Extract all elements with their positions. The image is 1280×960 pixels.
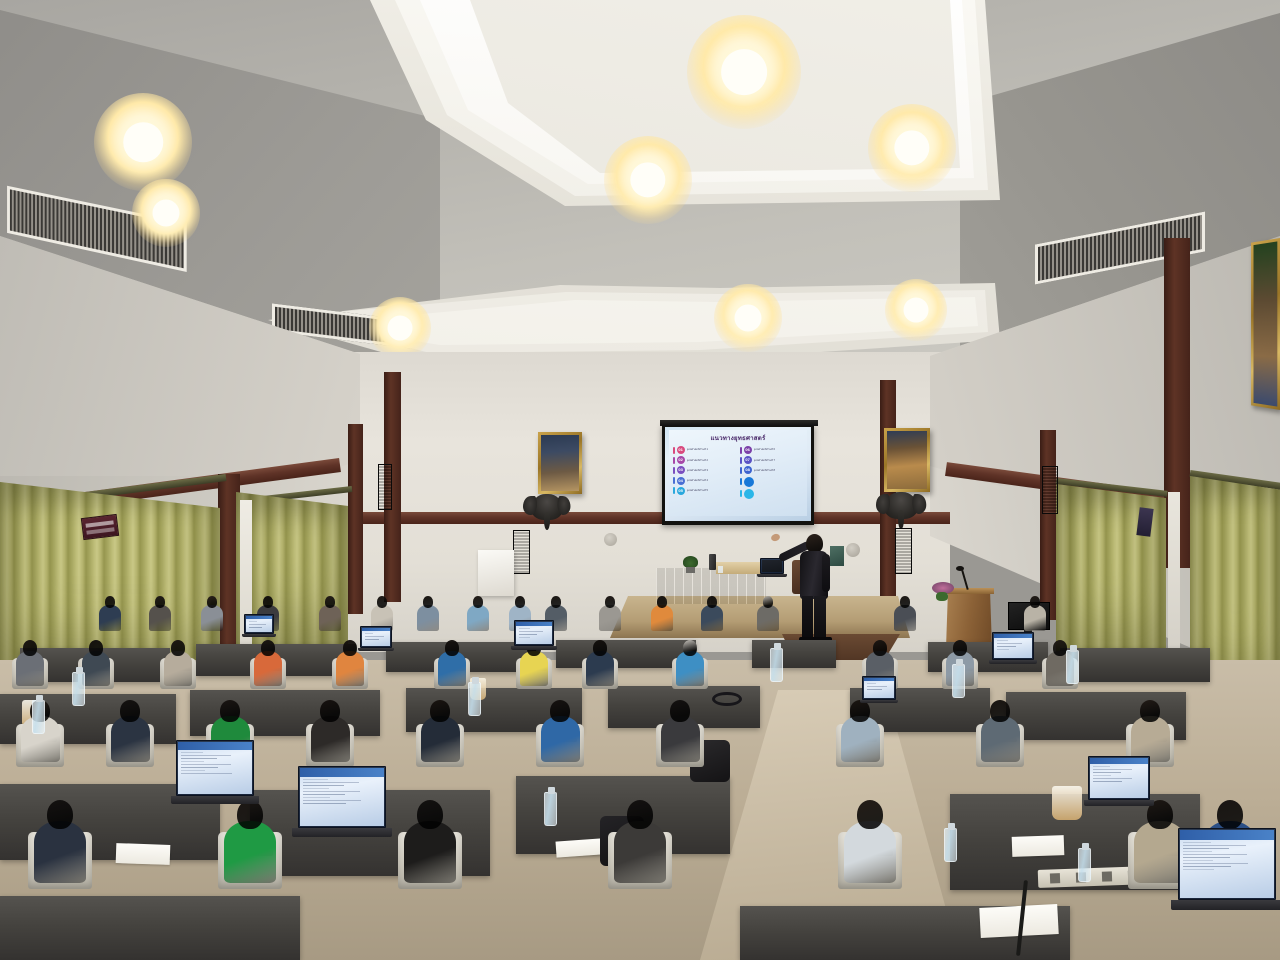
framed-royal-portrait-left	[538, 432, 582, 494]
attendee-head	[683, 640, 697, 656]
attendee	[417, 605, 439, 631]
laptop[interactable]	[514, 620, 554, 646]
attendee	[467, 605, 489, 631]
slide-item-number: 08	[744, 466, 752, 474]
laptop-keyboard[interactable]	[358, 648, 394, 651]
laptop-keyboard[interactable]	[1084, 800, 1155, 806]
attendee-head	[155, 596, 166, 608]
slide-list-item: 06ยุทธศาสตร์ด้านที่ 6	[740, 446, 803, 454]
slide-item-bar	[673, 467, 675, 474]
water-bottle	[72, 672, 85, 706]
attendee-head	[220, 700, 240, 722]
elephant-trunk-right	[898, 510, 904, 529]
ceiling-downlight	[885, 279, 947, 341]
paper-sheet-3	[116, 843, 171, 865]
laptop[interactable]	[862, 676, 896, 700]
attendee	[1024, 605, 1046, 631]
slide-content-columns: 01ยุทธศาสตร์ด้านที่ 102ยุทธศาสตร์ด้านที่…	[669, 443, 807, 499]
wall-diffuser-right	[846, 543, 860, 557]
slide-item-number: 02	[677, 456, 685, 464]
attendee-head	[763, 596, 774, 608]
water-bottle	[770, 648, 783, 682]
table-row1-e	[752, 640, 836, 668]
slide-item-bar	[740, 467, 742, 474]
attendee	[676, 651, 705, 685]
attendee-head	[320, 700, 340, 722]
laptop-screen	[1090, 758, 1148, 798]
attendee	[224, 821, 276, 883]
attendee-head	[120, 700, 140, 722]
laptop-screen	[362, 628, 390, 646]
attendee-head	[377, 596, 388, 608]
slide-list-item: 05ยุทธศาสตร์ด้านที่ 5	[673, 487, 736, 495]
slide-item-bar	[673, 477, 675, 484]
slide-item-number: 04	[677, 477, 685, 485]
laptop[interactable]	[1178, 828, 1276, 900]
projection-screen-surface: แนวทางยุทธศาสตร์ 01ยุทธศาสตร์ด้านที่ 102…	[665, 427, 811, 521]
slide-column: 06ยุทธศาสตร์ด้านที่ 607ยุทธศาสตร์ด้านที่…	[740, 446, 803, 499]
slide-item-text: ยุทธศาสตร์ด้านที่ 5	[687, 489, 736, 492]
water-bottle	[1078, 848, 1091, 882]
laptop-screen	[246, 616, 272, 632]
attendee-head	[953, 640, 967, 656]
attendee	[661, 716, 700, 763]
attendee-head	[873, 640, 887, 656]
wall-diffuser-left	[604, 533, 617, 546]
attendee-head	[657, 596, 668, 608]
attendee	[34, 821, 86, 883]
wall-speaker-far-left	[378, 464, 392, 510]
attendee	[520, 651, 549, 685]
slide-list-item: 04ยุทธศาสตร์ด้านที่ 4	[673, 477, 736, 485]
attendee-head	[89, 640, 103, 656]
slide-item-bar	[673, 487, 675, 494]
attendee	[844, 821, 896, 883]
water-bottle	[952, 664, 965, 698]
slide-item-text: ยุทธศาสตร์ด้านที่ 8	[754, 469, 803, 472]
slide-item-number: 07	[744, 456, 752, 464]
ceiling-downlight	[868, 104, 956, 192]
slide-list-item: 01ยุทธศาสตร์ด้านที่ 1	[673, 446, 736, 454]
framed-royal-portrait-right	[884, 428, 930, 492]
attendee-head	[551, 596, 562, 608]
projection-screen: แนวทางยุทธศาสตร์ 01ยุทธศาสตร์ด้านที่ 102…	[662, 425, 814, 525]
water-bottle	[32, 700, 45, 734]
attendee	[404, 821, 456, 883]
attendee-head	[325, 596, 336, 608]
attendee	[421, 716, 460, 763]
attendee-head	[550, 700, 570, 722]
wall-trim-back	[330, 512, 950, 524]
wall-speaker-far-right	[1042, 466, 1058, 514]
attendee	[894, 605, 916, 631]
laptop[interactable]	[176, 740, 254, 796]
attendee-head	[445, 640, 459, 656]
attendee	[16, 651, 45, 685]
attendee-head	[1030, 596, 1041, 608]
laptop-screen	[1180, 830, 1274, 898]
laptop-keyboard[interactable]	[989, 660, 1037, 664]
attendee	[336, 651, 365, 685]
attendee	[201, 605, 223, 631]
slide-item-bar	[673, 447, 675, 454]
paper-sheet-4	[555, 838, 602, 857]
attendee-head	[627, 800, 653, 829]
slide-column: 01ยุทธศาสตร์ด้านที่ 102ยุทธศาสตร์ด้านที่…	[673, 446, 736, 499]
slide-item-text: ยุทธศาสตร์ด้านที่ 1	[687, 448, 736, 451]
attendee-head	[707, 596, 718, 608]
water-bottle	[544, 792, 557, 826]
attendee-head	[171, 640, 185, 656]
slide-list-item	[740, 477, 803, 487]
laptop-screen	[178, 742, 252, 794]
ceiling-downlight	[94, 93, 193, 192]
laptop[interactable]	[360, 626, 392, 648]
laptop-screen	[516, 622, 552, 644]
attendee-head	[1217, 800, 1243, 829]
framed-landscape-picture	[1251, 238, 1280, 410]
attendee-head	[670, 700, 690, 722]
attendee-head	[605, 596, 616, 608]
cable-bundle	[712, 692, 742, 706]
slide-item-text: ยุทธศาสตร์ด้านที่ 4	[687, 479, 736, 482]
attendee	[586, 651, 615, 685]
slide-item-bar	[740, 490, 742, 497]
slide-item-bar	[673, 457, 675, 464]
laptop-screen	[864, 678, 894, 698]
attendee-head	[105, 596, 116, 608]
laptop-keyboard[interactable]	[1171, 900, 1280, 910]
slide-list-item: 03ยุทธศาสตร์ด้านที่ 3	[673, 466, 736, 474]
attendee-head	[990, 700, 1010, 722]
slide-item-text: ยุทธศาสตร์ด้านที่ 3	[687, 469, 736, 472]
attendee-head	[900, 596, 911, 608]
water-bottle	[944, 828, 957, 862]
attendee-head	[1140, 700, 1160, 722]
slide-item-number: 06	[744, 446, 752, 454]
laptop-screen	[994, 634, 1032, 658]
elephant-trunk-left	[544, 512, 550, 530]
attendee	[614, 821, 666, 883]
slide-item-number: 01	[677, 446, 685, 454]
ceiling-downlight	[604, 136, 692, 224]
water-bottle	[1066, 650, 1079, 684]
slide-item-bar	[740, 447, 742, 454]
attendee	[164, 651, 193, 685]
attendee-head	[473, 596, 484, 608]
attendee	[541, 716, 580, 763]
attendee-head	[1053, 640, 1067, 656]
attendee	[111, 716, 150, 763]
attendee-head	[515, 596, 526, 608]
slide-list-item	[740, 489, 803, 499]
water-bottle	[468, 682, 481, 716]
attendee	[82, 651, 111, 685]
attendee	[254, 651, 283, 685]
slide-list-item: 07ยุทธศาสตร์ด้านที่ 7	[740, 456, 803, 464]
slide-item-bar	[740, 457, 742, 464]
slide-item-number: 03	[677, 466, 685, 474]
laptop-screen	[300, 768, 384, 826]
laptop[interactable]	[244, 614, 274, 634]
attendee	[311, 716, 350, 763]
slide-list-item: 08ยุทธศาสตร์ด้านที่ 8	[740, 466, 803, 474]
attendee-head	[857, 800, 883, 829]
laptop-keyboard[interactable]	[171, 796, 260, 804]
attendee	[981, 716, 1020, 763]
attendee-head	[850, 700, 870, 722]
laptop-keyboard[interactable]	[860, 700, 899, 703]
slide-item-number: 05	[677, 487, 685, 495]
ceiling-downlight	[369, 297, 431, 359]
attendee	[438, 651, 467, 685]
ceiling-downlight	[714, 284, 782, 352]
laptop[interactable]	[992, 632, 1034, 660]
slide-item-text: ยุทธศาสตร์ด้านที่ 7	[754, 459, 803, 462]
slide-item-blob	[744, 489, 754, 499]
attendee	[599, 605, 621, 631]
attendee-head	[343, 640, 357, 656]
attendee-head	[423, 596, 434, 608]
attendee-head	[207, 596, 218, 608]
laptop-keyboard[interactable]	[292, 828, 392, 837]
attendee	[149, 605, 171, 631]
slide-item-bar	[740, 478, 742, 485]
attendee-head	[430, 700, 450, 722]
seminar-room-photo: แนวทางยุทธศาสตร์ 01ยุทธศาสตร์ด้านที่ 102…	[0, 0, 1280, 960]
laptop[interactable]	[298, 766, 386, 828]
attendee	[757, 605, 779, 631]
table-row4-a	[0, 896, 300, 960]
ceiling-downlight	[687, 15, 801, 129]
slide-item-text: ยุทธศาสตร์ด้านที่ 2	[687, 459, 736, 462]
slide-item-blob	[744, 477, 754, 487]
laptop-keyboard[interactable]	[242, 634, 276, 637]
table-row1-g	[1060, 648, 1210, 682]
attendee	[99, 605, 121, 631]
attendee-head	[263, 596, 274, 608]
attendee-head	[261, 640, 275, 656]
paper-sheet-2	[1012, 835, 1065, 857]
attendee	[319, 605, 341, 631]
attendee-head	[47, 800, 73, 829]
slide-list-item: 02ยุทธศาสตร์ด้านที่ 2	[673, 456, 736, 464]
attendee-head	[593, 640, 607, 656]
presentation-slide: แนวทางยุทธศาสตร์ 01ยุทธศาสตร์ด้านที่ 102…	[669, 430, 807, 516]
attendee	[651, 605, 673, 631]
attendee-head	[417, 800, 443, 829]
attendee	[841, 716, 880, 763]
ceiling-downlight	[132, 179, 200, 247]
laptop-keyboard[interactable]	[511, 646, 557, 650]
attendee-head	[237, 800, 263, 829]
slide-title: แนวทางยุทธศาสตร์	[669, 433, 807, 443]
iced-drink-3	[1052, 786, 1082, 820]
projection-screen-housing	[660, 420, 818, 426]
attendee-head	[23, 640, 37, 656]
laptop[interactable]	[1088, 756, 1150, 800]
slide-item-text: ยุทธศาสตร์ด้านที่ 6	[754, 448, 803, 451]
room-sign	[81, 514, 119, 540]
attendee	[701, 605, 723, 631]
